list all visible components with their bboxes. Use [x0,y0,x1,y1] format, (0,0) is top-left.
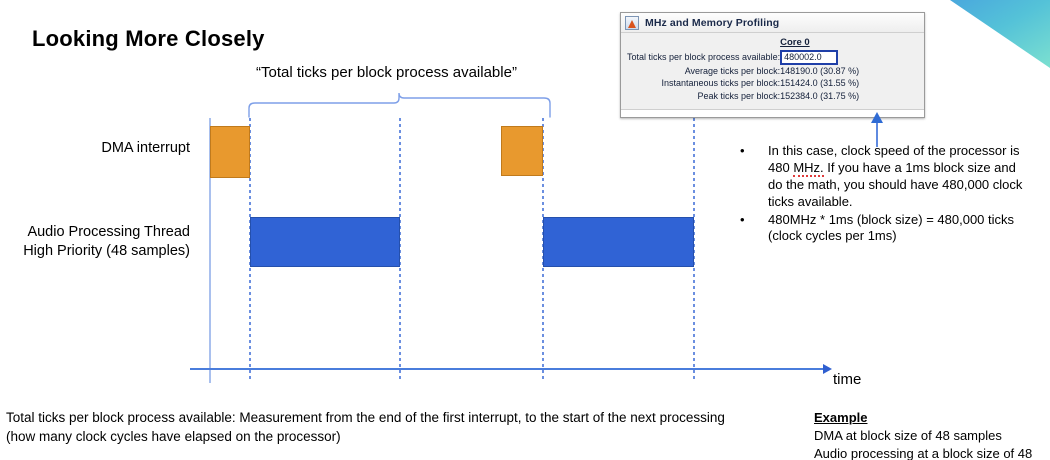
table-row: Total ticks per block process available:… [627,50,859,65]
table-row: Instantaneous ticks per block: 151424.0 … [627,78,859,91]
bullet-marker: • [740,212,768,246]
measurement-brace-svg [248,92,552,118]
row-value-total-ticks[interactable]: 480002.0 [780,50,838,64]
row-label-dma-interrupt: DMA interrupt [20,139,190,158]
brace-caption-label: “Total ticks per block process available… [256,64,517,81]
row-label-audio-processing-line1: Audio Processing Thread [10,223,190,242]
measurement-brace [248,92,552,118]
row-value-peak-ticks: 152384.0 (31.75 %) [780,91,859,104]
dialog-title: MHz and Memory Profiling [645,17,779,29]
row-label-audio-processing: Audio Processing Thread High Priority (4… [10,223,190,261]
example-line-2: Audio processing at a block size of 48 [814,445,1046,460]
page-title: Looking More Closely [32,26,265,52]
row-label-audio-processing-line2: High Priority (48 samples) [10,242,190,261]
dma-interrupt-bar-2 [501,126,543,176]
row-label-average-ticks: Average ticks per block: [627,66,780,79]
example-block: Example DMA at block size of 48 samples … [814,409,1046,460]
bullet-text-2: 480MHz * 1ms (block size) = 480,000 tick… [768,212,1030,246]
time-axis-arrowhead [823,364,832,374]
bullet-marker: • [740,143,768,211]
dialog-body: Core 0 Total ticks per block process ava… [621,33,924,109]
bottom-definition-caption: Total ticks per block process available:… [6,408,742,446]
table-header-row: Core 0 [627,37,859,50]
explanation-bullet-list: • In this case, clock speed of the proce… [740,143,1030,246]
audio-processing-bar-1 [250,217,400,267]
profiling-table: Core 0 Total ticks per block process ava… [627,37,859,103]
dialog-titlebar[interactable]: MHz and Memory Profiling [621,13,924,33]
time-axis-label: time [833,371,861,388]
dma-interrupt-bar-1 [210,126,250,178]
example-heading: Example [814,409,1046,427]
bullet-1-misspelled-word: MHz. [793,160,823,177]
row-label-instantaneous-ticks: Instantaneous ticks per block: [627,78,780,91]
example-line-1: DMA at block size of 48 samples [814,427,1046,445]
corner-decoration-triangle [950,0,1050,68]
bullet-text-1: In this case, clock speed of the process… [768,143,1030,211]
slide-canvas: Looking More Closely “Total ticks per bl… [0,0,1050,460]
row-label-total-ticks: Total ticks per block process available: [627,50,780,65]
mhz-memory-profiling-dialog[interactable]: MHz and Memory Profiling Core 0 Total ti… [620,12,925,118]
row-value-instantaneous-ticks: 151424.0 (31.55 %) [780,78,859,91]
list-item: • In this case, clock speed of the proce… [740,143,1030,211]
time-axis-line [190,368,824,370]
column-header-core0: Core 0 [780,37,859,50]
table-row: Peak ticks per block: 152384.0 (31.75 %) [627,91,859,104]
row-value-average-ticks: 148190.0 (30.87 %) [780,66,859,79]
row-label-peak-ticks: Peak ticks per block: [627,91,780,104]
row-value-total-ticks-cell: 480002.0 [780,50,859,65]
app-logo-icon [625,16,639,30]
header-spacer-cell [627,37,780,50]
audio-processing-bar-2 [543,217,694,267]
table-row: Average ticks per block: 148190.0 (30.87… [627,66,859,79]
list-item: • 480MHz * 1ms (block size) = 480,000 ti… [740,212,1030,246]
